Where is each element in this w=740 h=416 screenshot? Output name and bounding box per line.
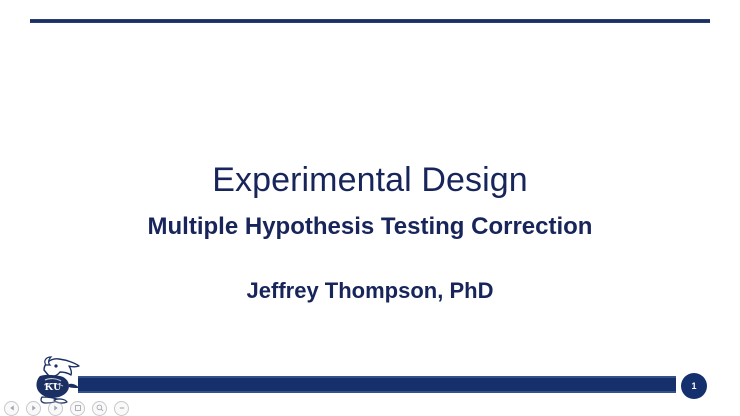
zoom-in-icon[interactable] — [92, 401, 107, 416]
video-player-controls[interactable] — [0, 400, 740, 416]
title-block: Experimental Design Multiple Hypothesis … — [0, 160, 740, 304]
author-name: Jeffrey Thompson, PhD — [0, 278, 740, 304]
play-icon[interactable] — [26, 401, 41, 416]
zoom-out-icon[interactable] — [114, 401, 129, 416]
page-number-badge: 1 — [681, 373, 707, 399]
page-subtitle: Multiple Hypothesis Testing Correction — [0, 213, 740, 242]
slide-canvas: Experimental Design Multiple Hypothesis … — [0, 0, 740, 416]
rewind-icon[interactable] — [4, 401, 19, 416]
ku-logo-letters: KU — [45, 381, 62, 393]
fullscreen-icon[interactable] — [70, 401, 85, 416]
top-divider-rule — [30, 19, 710, 23]
bottom-divider-bar — [78, 376, 676, 393]
page-title: Experimental Design — [0, 160, 740, 200]
forward-icon[interactable] — [48, 401, 63, 416]
